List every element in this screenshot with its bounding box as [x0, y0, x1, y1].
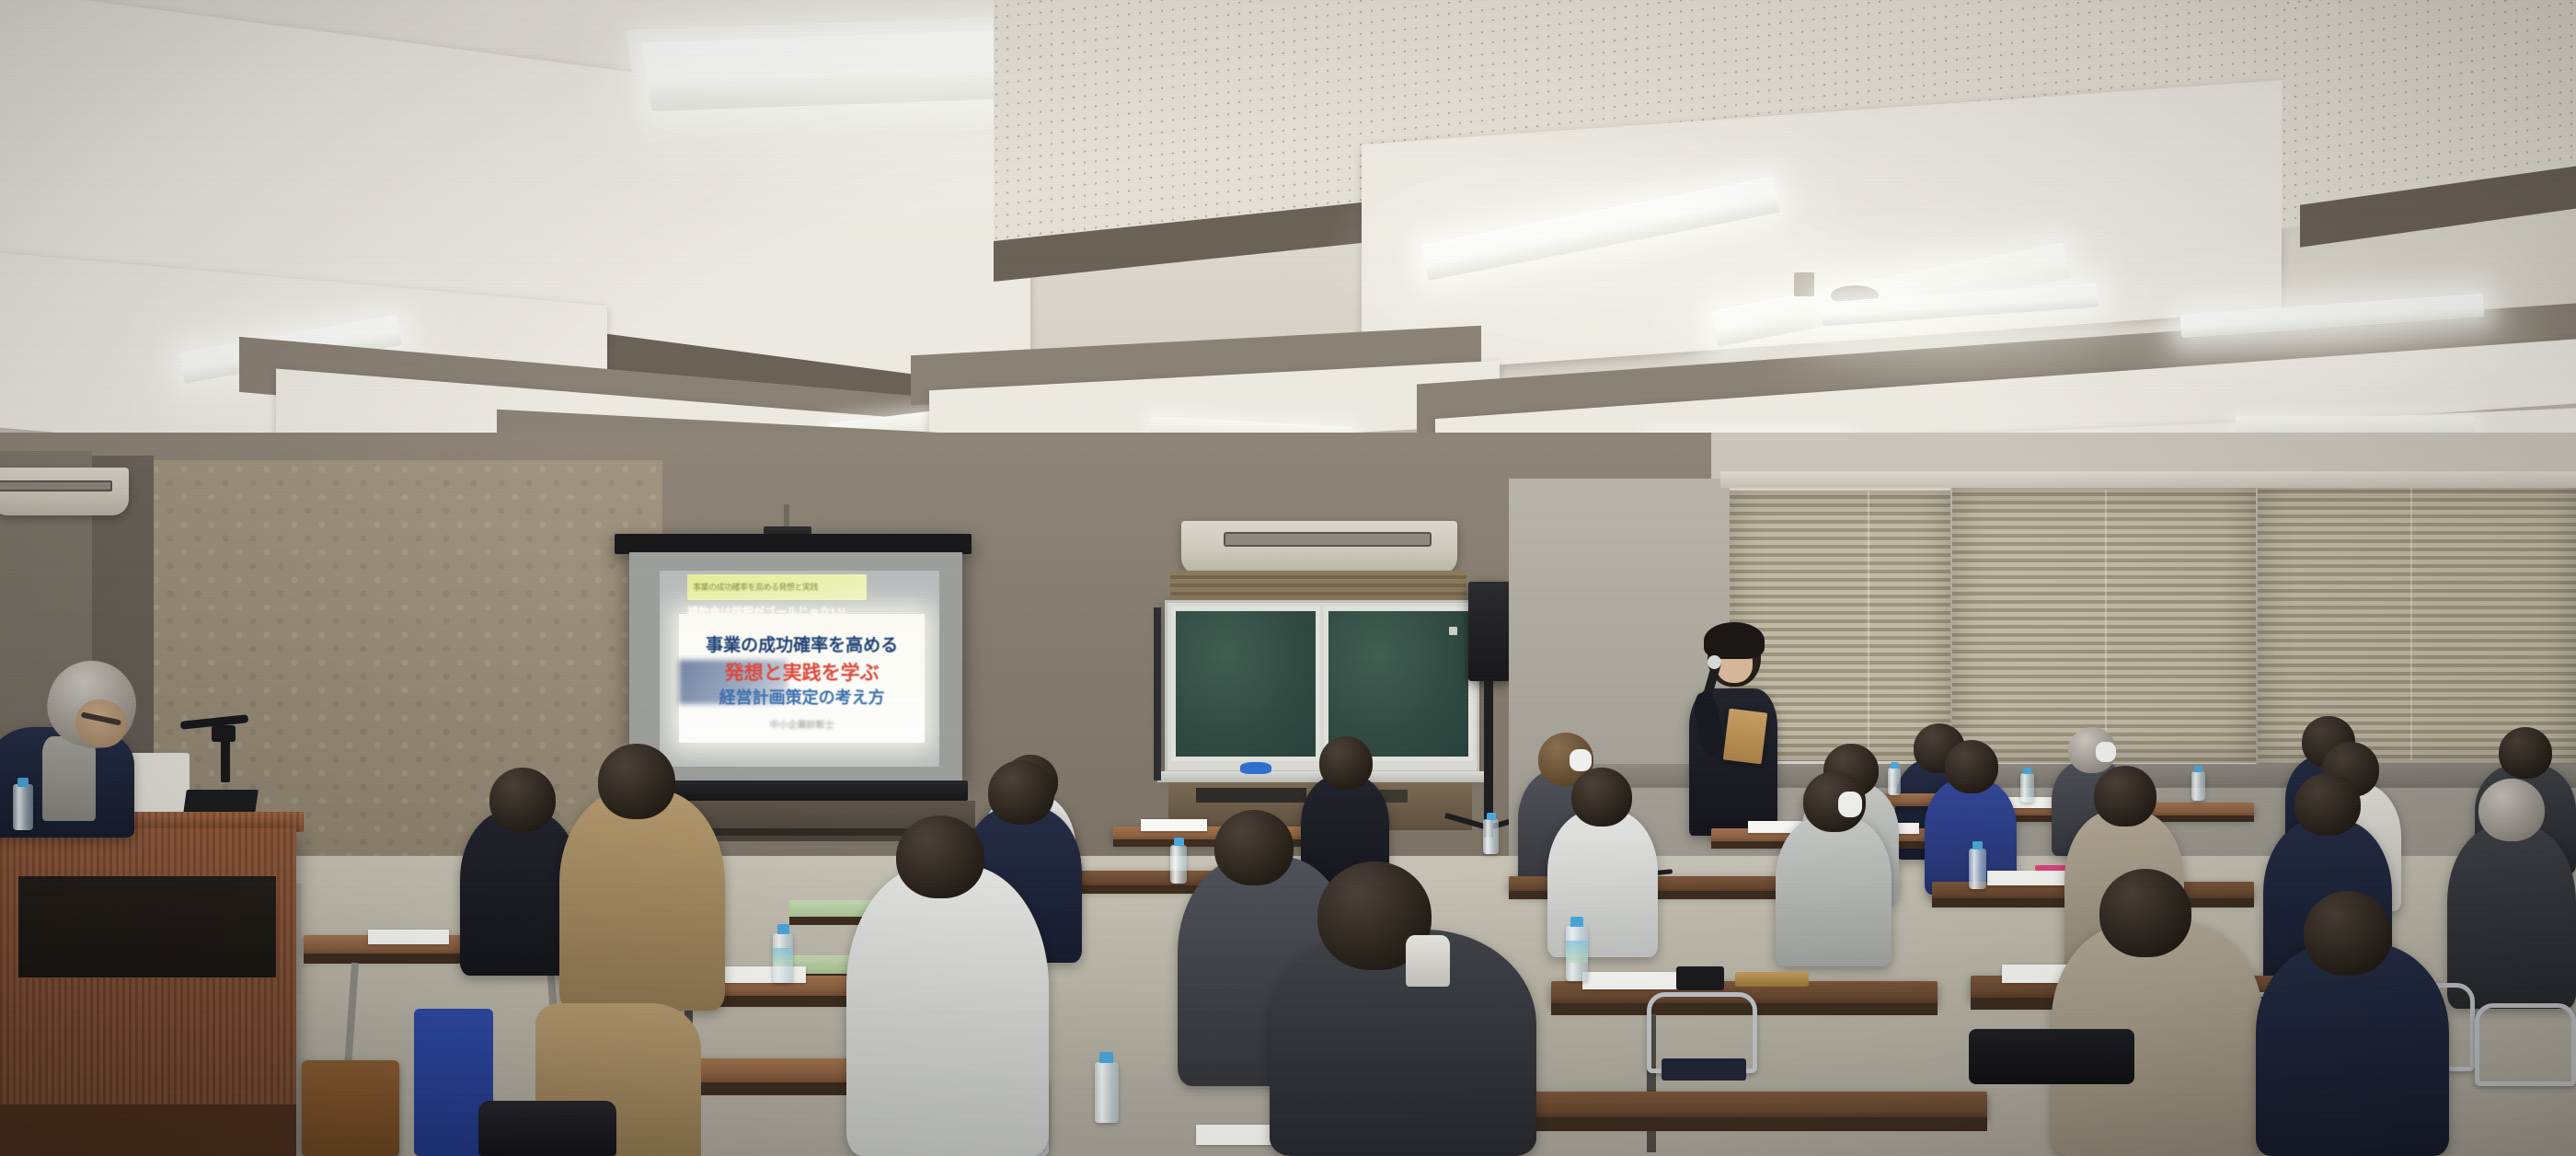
water-bottle-cap — [1487, 813, 1496, 820]
attendee-head — [2304, 891, 2392, 976]
air-conditioner-left-vent — [0, 480, 112, 491]
attendee-head — [2294, 773, 2361, 836]
water-bottle-cap — [2023, 768, 2031, 774]
attendee-head — [1945, 740, 1998, 793]
blackboard-eraser — [1240, 762, 1271, 774]
water-bottle[interactable] — [2191, 771, 2205, 801]
window-blinds-3[interactable] — [2258, 482, 2576, 768]
presenter-hair — [1704, 622, 1765, 659]
podium-water-bottle-cap — [17, 778, 29, 787]
blinds-valance — [1720, 471, 2576, 488]
paper-handout[interactable] — [1987, 871, 2072, 885]
water-bottle-cap — [1570, 917, 1583, 927]
projection-screen-header — [615, 534, 972, 554]
slide-title-line-3: 経営計画策定の考え方 — [679, 685, 926, 709]
blackboard-side-rail — [1154, 607, 1161, 780]
attendee-head — [1571, 768, 1632, 827]
smartphone[interactable] — [1676, 966, 1724, 990]
attendee-head — [2099, 869, 2191, 957]
water-bottle-cap — [1099, 1052, 1113, 1063]
water-bottle-cap — [1891, 762, 1899, 769]
leather-bag[interactable] — [302, 1060, 399, 1156]
folding-chair-seat — [1662, 1058, 1746, 1081]
table-row-f-right-edge — [1509, 1117, 1987, 1131]
attendee-head — [2478, 779, 2545, 841]
projection-screen[interactable]: 事業の成功確率を高める発想と実践 補助金は採択がゴールじゃない! 会社の未来を描… — [629, 552, 962, 780]
blind-cord-2[interactable] — [2105, 490, 2107, 758]
slide-white-card: 事業の成功確率を高める 発想と実践を学ぶ 経営計画策定の考え方 中小企業診断士 — [679, 614, 926, 744]
attendee-face-mask — [1838, 792, 1862, 817]
ceiling-light-11 — [2236, 416, 2475, 433]
projected-slide: 事業の成功確率を高める発想と実践 補助金は採択がゴールじゃない! 会社の未来を描… — [660, 571, 939, 767]
wooden-case[interactable] — [1735, 972, 1809, 987]
blackboard[interactable] — [1165, 600, 1479, 773]
attendee-head — [1319, 736, 1373, 790]
attendee-head — [598, 744, 675, 819]
podium-person-shirt — [42, 736, 96, 821]
water-bottle[interactable] — [1170, 845, 1187, 884]
attendee-body — [1547, 810, 1658, 957]
black-bag[interactable] — [478, 1101, 616, 1156]
attendee-body — [2447, 825, 2576, 1009]
front-desk-equipment — [1196, 788, 1306, 803]
podium-water-bottle[interactable] — [13, 784, 33, 830]
water-bottle[interactable] — [1888, 768, 1901, 795]
blind-cord-3[interactable] — [2410, 488, 2412, 760]
water-bottle-label — [1566, 941, 1588, 963]
podium-microphone-mount — [212, 725, 236, 742]
water-bottle-cap — [777, 924, 789, 934]
slide-band-text: 事業の成功確率を高める発想と実践 — [693, 581, 818, 593]
attendee-head — [2094, 766, 2156, 827]
water-bottle-cap — [2194, 766, 2202, 772]
presenter-microphone-head — [1708, 655, 1721, 669]
paper-handout[interactable] — [1141, 819, 1207, 831]
projector-mount-rod — [784, 504, 789, 528]
air-conditioner-front — [1181, 521, 1457, 574]
water-bottle[interactable] — [2020, 773, 2034, 803]
attendee-head — [1214, 810, 1294, 885]
water-bottle-cap — [1972, 841, 1983, 850]
ceiling-sprinkler — [1794, 272, 1814, 296]
water-bottle[interactable] — [1969, 849, 1986, 889]
slide-title-line-2: 発想と実践を学ぶ — [679, 658, 926, 686]
attendee-collar — [1406, 935, 1450, 987]
attendee-head — [896, 815, 984, 898]
attendee-head — [2499, 727, 2552, 779]
blind-cord-1[interactable] — [1868, 491, 1869, 758]
slide-subtitle: 中小企業診断士 — [679, 717, 926, 731]
paper-handout[interactable] — [1582, 972, 1678, 989]
blackboard-panel-left — [1171, 607, 1320, 761]
window-blinds-2[interactable] — [1952, 485, 2256, 766]
water-bottle[interactable] — [1483, 819, 1499, 854]
attendee-head — [988, 760, 1054, 825]
air-conditioner-front-vent — [1224, 532, 1432, 547]
attendee-head — [489, 768, 556, 832]
attendee-body — [559, 790, 725, 1011]
water-bottle-cap — [1174, 838, 1184, 846]
seminar-room-photo: 事業の成功確率を高める発想と実践 補助金は採択がゴールじゃない! 会社の未来を描… — [0, 0, 2576, 1156]
podium-lower-panel — [0, 1104, 296, 1156]
slide-band: 事業の成功確率を高める発想と実践 — [687, 574, 867, 600]
water-bottle-label — [773, 948, 793, 966]
blackboard-magnet — [1449, 627, 1457, 635]
presenter-clipboard[interactable] — [1723, 709, 1768, 765]
folding-chair[interactable] — [2475, 1003, 2576, 1086]
attendee-body — [1776, 815, 1892, 966]
table-row-f-right[interactable] — [1509, 1092, 1987, 1119]
slide-title-line-1: 事業の成功確率を高める — [679, 631, 926, 656]
podium-front-panel — [18, 876, 276, 977]
pa-speaker — [1468, 582, 1511, 681]
paper-handout[interactable] — [368, 930, 449, 944]
attendee-face-mask — [1570, 749, 1592, 771]
attendee-face-mask — [2096, 742, 2116, 762]
air-conditioner-left — [0, 468, 129, 515]
black-bag[interactable] — [1969, 1029, 2134, 1084]
water-bottle[interactable] — [1095, 1062, 1119, 1123]
attendee-body — [846, 865, 1049, 1156]
